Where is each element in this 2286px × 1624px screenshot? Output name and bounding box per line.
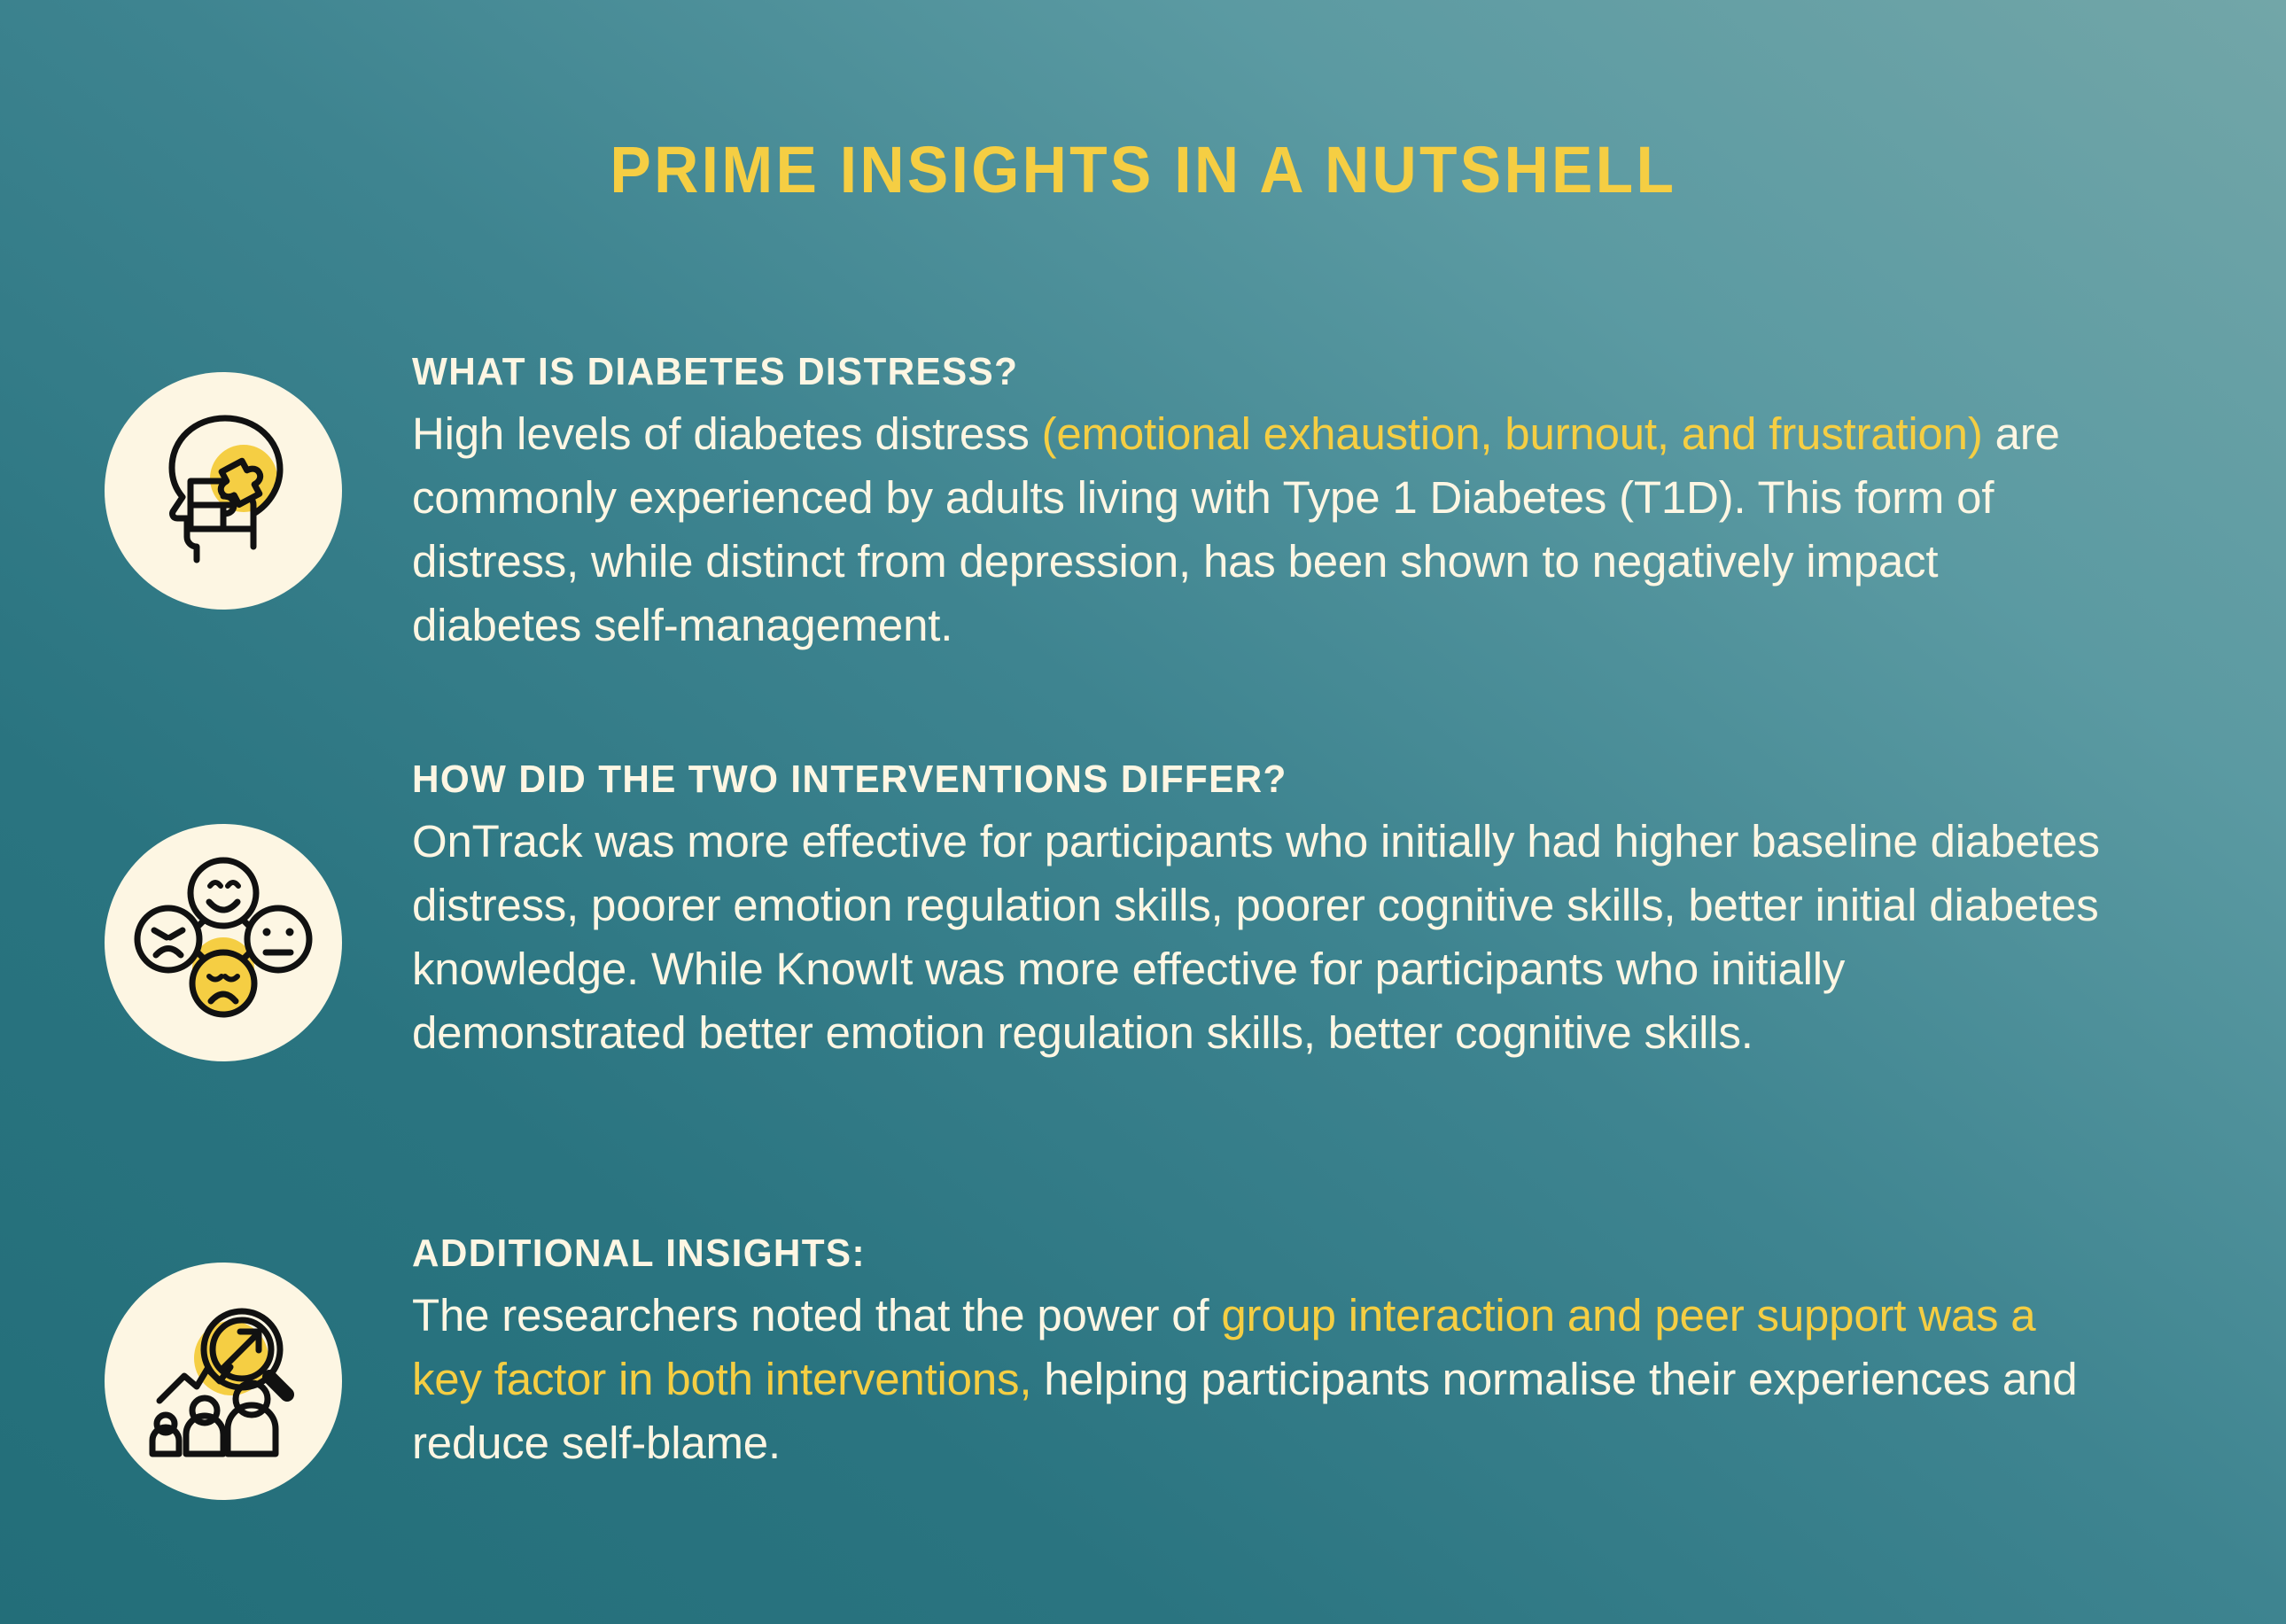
icon-badge-circle	[105, 824, 342, 1061]
section-body: High levels of diabetes distress (emotio…	[412, 402, 2104, 657]
icon-column	[0, 758, 412, 1061]
text-column: ADDITIONAL INSIGHTS: The researchers not…	[412, 1232, 2286, 1475]
highlighted-text-run: (emotional exhaustion, burnout, and frus…	[1042, 408, 1983, 459]
section-heading: WHAT IS DIABETES DISTRESS?	[412, 350, 2037, 393]
text-run: OnTrack was more effective for participa…	[412, 816, 2100, 1058]
insight-section-additional-insights: ADDITIONAL INSIGHTS: The researchers not…	[0, 1232, 2286, 1500]
insight-section-how-interventions-differ: HOW DID THE TWO INTERVENTIONS DIFFER? On…	[0, 758, 2286, 1065]
insight-section-what-is-diabetes-distress: WHAT IS DIABETES DISTRESS? High levels o…	[0, 350, 2286, 657]
page-title: PRIME INSIGHTS IN A NUTSHELL	[610, 137, 1676, 203]
section-body: OnTrack was more effective for participa…	[412, 810, 2104, 1065]
icon-column	[0, 1232, 412, 1500]
section-heading: ADDITIONAL INSIGHTS:	[412, 1232, 2037, 1275]
icon-badge-circle	[105, 372, 342, 610]
text-run: The researchers noted that the power of	[412, 1290, 1221, 1340]
magnifier-growth-people-icon	[105, 1263, 342, 1500]
section-heading: HOW DID THE TWO INTERVENTIONS DIFFER?	[412, 758, 2037, 801]
text-column: WHAT IS DIABETES DISTRESS? High levels o…	[412, 350, 2286, 657]
head-puzzle-icon	[105, 372, 342, 610]
emotion-faces-network-icon	[105, 824, 342, 1061]
poster-title-bar: PRIME INSIGHTS IN A NUTSHELL	[0, 137, 2286, 203]
icon-badge-circle	[105, 1263, 342, 1500]
text-column: HOW DID THE TWO INTERVENTIONS DIFFER? On…	[412, 758, 2286, 1065]
icon-column	[0, 350, 412, 610]
infographic-poster: PRIME INSIGHTS IN A NUTSHELL	[0, 0, 2286, 1624]
text-run: High levels of diabetes distress	[412, 408, 1042, 459]
section-body: The researchers noted that the power of …	[412, 1284, 2104, 1475]
